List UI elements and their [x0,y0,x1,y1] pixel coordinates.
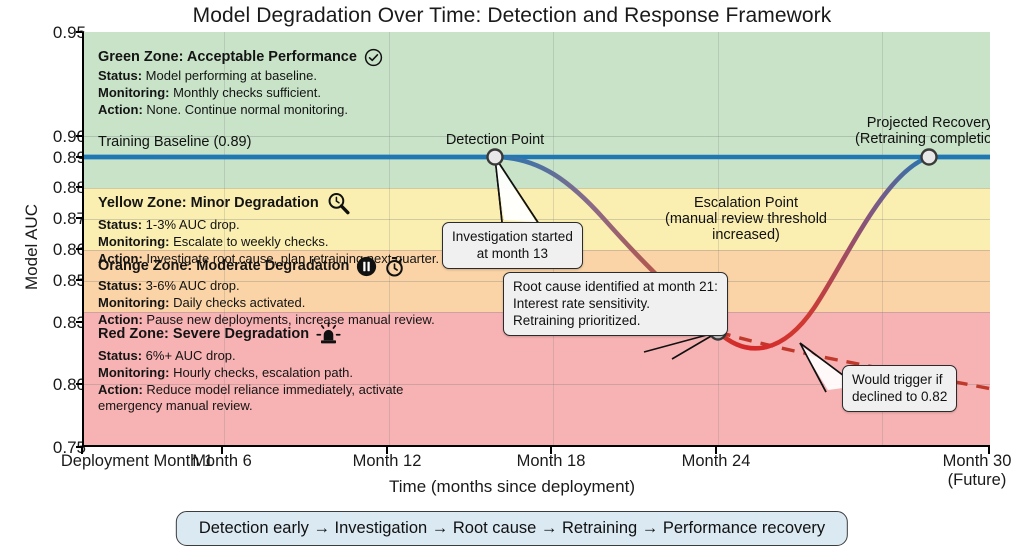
callout-trigger-line2: declined to 0.82 [852,388,947,405]
y-tick-0.85: 0.85 [6,271,86,291]
callout-would-trigger: Would trigger if declined to 0.82 [842,365,957,412]
zone-red-heading: Red Zone: Severe Degradation [98,325,309,344]
x-tick-month-1: Deployment Month 1 [61,452,213,471]
x-tick-month-18: Month 18 [517,452,586,471]
x-tick-month-6: Month 6 [192,452,252,471]
y-tick-0.80: 0.80 [6,375,86,395]
y-tick-0.88: 0.88 [6,178,86,198]
siren-icon [316,322,341,347]
zone-red-action-val: Reduce model reliance immediately, activ… [143,382,404,397]
y-tick-0.89: 0.89 [6,148,86,168]
escalation-point-label: Escalation Point (manual review threshol… [665,195,827,243]
y-axis-label: Model AUC [22,204,42,290]
stopwatch-icon [384,256,405,277]
callout-investigation: Investigation started at month 13 [442,222,583,269]
chart-root: Model Degradation Over Time: Detection a… [0,0,1024,559]
recovery-label-line2: (Retraining completion) [855,131,990,147]
callout-rootcause-line1: Root cause identified at month 21: [513,278,718,295]
baseline-label: Training Baseline (0.89) [98,134,251,150]
marker-detection-point[interactable] [488,150,503,165]
zone-orange-monitoring-val: Daily checks activated. [169,295,305,310]
zone-red-action-key: Action: [98,382,143,397]
zone-green-monitoring-key: Monitoring: [98,85,169,100]
page-title: Model Degradation Over Time: Detection a… [0,4,1024,28]
y-tick-0.86: 0.86 [6,240,86,260]
plot-area: Green Zone: Acceptable Performance Statu… [82,32,990,447]
zone-orange-monitoring-key: Monitoring: [98,295,169,310]
callout-rootcause-line3: Retraining prioritized. [513,312,718,329]
zone-orange-heading: Orange Zone: Moderate Degradation [98,257,349,276]
zone-green-block: Green Zone: Acceptable Performance Statu… [98,48,383,118]
zone-green-action-key: Action: [98,102,143,117]
recovery-label-line1: Projected Recovery [855,115,990,131]
zone-green-heading: Green Zone: Acceptable Performance [98,48,357,67]
escalation-label-line1: Escalation Point [665,195,827,211]
callout-trigger-line1: Would trigger if [852,371,947,388]
zone-red-block: Red Zone: Severe Degradation Status: 6%+… [98,322,403,415]
zone-green-action-val: None. Continue normal monitoring. [143,102,348,117]
zone-orange-status-key: Status: [98,278,142,293]
y-tick-0.83: 0.83 [6,313,86,333]
callout-investigation-line2: at month 13 [452,245,573,262]
zone-yellow-monitoring-val: Escalate to weekly checks. [169,234,328,249]
y-tick-0.90: 0.90 [6,127,86,147]
x-axis-label: Time (months since deployment) [0,477,1024,497]
marker-projected-recovery[interactable] [922,150,937,165]
zone-yellow-monitoring-key: Monitoring: [98,234,169,249]
x-tick-month-12: Month 12 [353,452,422,471]
magnifier-clock-icon [326,191,351,216]
escalation-label-line2: (manual review threshold [665,211,827,227]
callout-rootcause-line2: Interest rate sensitivity. [513,295,718,312]
x-tick-month-30-label: Month 30 [943,452,1012,471]
y-tick-0.95: 0.95 [6,23,86,43]
zone-red-monitoring-val: Hourly checks, escalation path. [169,365,353,380]
zone-red-action-val2: emergency manual review. [98,398,403,415]
zone-yellow-heading: Yellow Zone: Minor Degradation [98,194,319,213]
callout-investigation-line1: Investigation started [452,228,573,245]
zone-green-monitoring-val: Monthly checks sufficient. [169,85,321,100]
pause-circle-icon [356,256,377,277]
x-tick-month-24: Month 24 [682,452,751,471]
zone-orange-status-val: 3-6% AUC drop. [142,278,240,293]
detection-point-label: Detection Point [446,132,544,148]
callout-rootcause: Root cause identified at month 21: Inter… [503,272,728,336]
check-circle-icon [364,48,383,67]
zone-green-status-key: Status: [98,68,142,83]
zone-green-status-val: Model performing at baseline. [142,68,317,83]
zone-yellow-status-key: Status: [98,217,142,232]
y-tick-0.87: 0.87 [6,209,86,229]
zone-orange-block: Orange Zone: Moderate Degradation Status… [98,256,435,328]
zone-yellow-status-val: 1-3% AUC drop. [142,217,240,232]
zone-red-monitoring-key: Monitoring: [98,365,169,380]
projected-recovery-label: Projected Recovery (Retraining completio… [855,115,990,147]
zone-red-status-val: 6%+ AUC drop. [142,348,236,363]
escalation-label-line3: increased) [665,227,827,243]
workflow-summary-banner: Detection early → Investigation → Root c… [176,511,848,546]
leader-rootcause [644,332,718,359]
zone-red-status-key: Status: [98,348,142,363]
